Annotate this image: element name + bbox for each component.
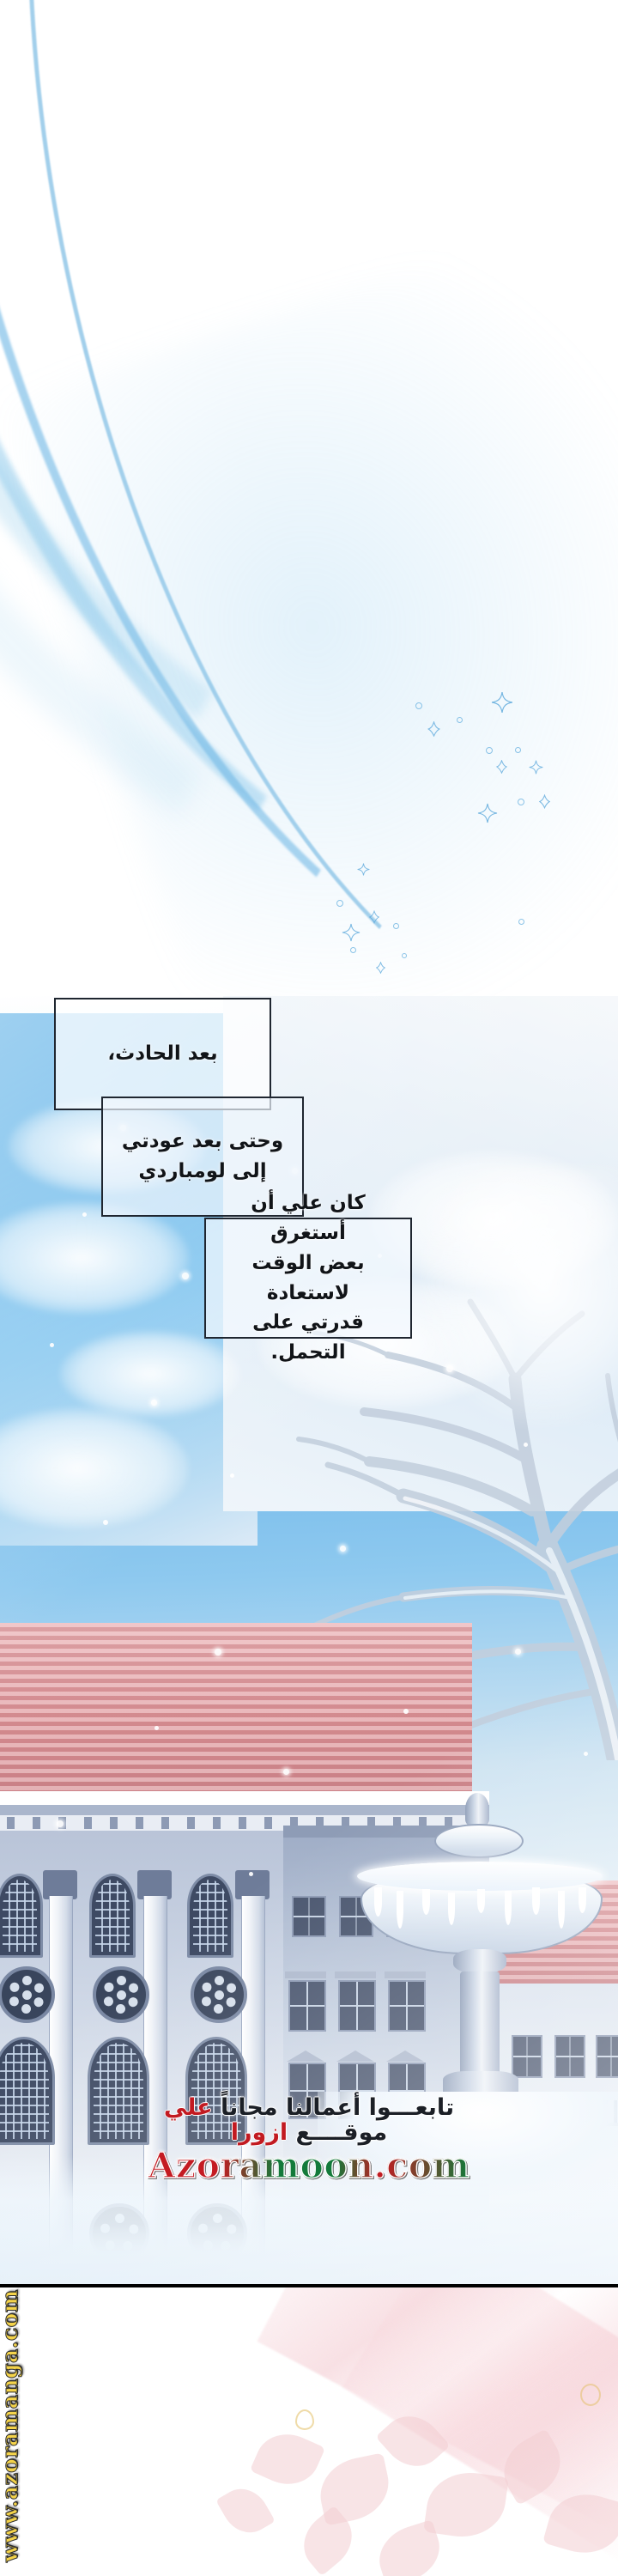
snowflake: [515, 1649, 521, 1655]
dentil: [7, 1817, 15, 1829]
pink-petal: [250, 2423, 325, 2494]
dialogue-line: كان علي أن أستغرق: [251, 1192, 366, 1244]
snowflake: [524, 1443, 528, 1447]
dentil: [187, 1817, 195, 1829]
snowflake: [230, 1473, 234, 1478]
gold-sparkle-icon: [295, 2409, 314, 2430]
sparkle-star-icon: [477, 803, 498, 823]
sparkle-dot-icon: [515, 747, 521, 753]
fountain-finial: [465, 1793, 489, 1826]
dentil: [239, 1817, 246, 1829]
snowflake: [446, 1365, 453, 1372]
dentil: [84, 1817, 92, 1829]
snowflake: [103, 1520, 108, 1525]
dialogue-text: وحتى بعد عودتي إلى لومباردي: [122, 1127, 283, 1187]
sparkle-dot-icon: [393, 923, 399, 929]
column-capital: [43, 1870, 77, 1899]
gold-sparkle-icon: [580, 2384, 601, 2406]
snowflake: [215, 1649, 221, 1656]
icicle: [505, 1891, 512, 1925]
dentil: [33, 1817, 40, 1829]
cloud: [60, 1331, 240, 1417]
window-lintel: [285, 1971, 326, 1978]
sparkle-diamond-icon: [496, 760, 507, 774]
sparkle-star-icon: [491, 691, 513, 714]
sparkle-dot-icon: [518, 919, 524, 925]
palace-roof-main: [0, 1623, 472, 1803]
frost-cluster: [421, 1168, 618, 1425]
dentil: [136, 1817, 143, 1829]
cornice-band: [0, 1805, 489, 1815]
icicle: [532, 1887, 540, 1915]
dialogue-box-1-line-1: بعد الحادث،: [54, 998, 271, 1110]
webtoon-page: بعد الحادث، وحتى بعد عودتي إلى لومباردي …: [0, 0, 618, 2576]
abstract-blue-swoosh-panel: [0, 0, 618, 996]
arched-window: [187, 1874, 233, 1958]
pink-petal: [215, 2480, 276, 2542]
snowflake: [340, 1546, 346, 1552]
dialogue-line: إلى لومباردي: [138, 1160, 266, 1182]
snowflake: [403, 1709, 409, 1714]
square-window: [288, 1980, 326, 2032]
dialogue-line: بعض الوقت لاستعادة: [251, 1252, 364, 1304]
pink-petal: [423, 2467, 509, 2543]
icicle: [374, 1887, 382, 1917]
fountain-upper-basin: [434, 1824, 524, 1858]
sparkle-dot-icon: [402, 953, 407, 958]
snowflake: [182, 1273, 189, 1279]
rose-window: [0, 1966, 55, 2023]
vertical-site-url: www.azoramanga.com: [0, 2289, 22, 2562]
fountain-stem: [460, 1971, 500, 2075]
sparkle-diamond-icon: [427, 721, 440, 737]
foreground-snow: [0, 2155, 618, 2284]
icicle: [558, 1891, 565, 1929]
sparkle-star-icon: [342, 923, 360, 942]
sparkle-diamond-icon: [539, 794, 550, 809]
icicle: [448, 1893, 455, 1925]
snowflake: [283, 1769, 289, 1775]
snowflake: [151, 1400, 157, 1406]
column-capital: [137, 1870, 172, 1899]
sparkle-star-icon: [529, 760, 543, 775]
arched-window-large: [88, 2037, 149, 2145]
sparkle-dot-icon: [350, 947, 356, 953]
snowflake: [82, 1212, 87, 1217]
fountain-stem: [453, 1949, 506, 1973]
page-footer: www.azoramanga.com: [0, 2287, 618, 2576]
snowflake: [249, 1872, 253, 1876]
arched-window: [0, 1874, 43, 1958]
snowflake: [50, 1343, 54, 1347]
dialogue-box-2: كان علي أن أستغرق بعض الوقت لاستعادة قدر…: [204, 1218, 412, 1339]
pediment: [287, 2050, 324, 2062]
dialogue-text: كان علي أن أستغرق بعض الوقت لاستعادة قدر…: [218, 1188, 398, 1369]
sparkle-diamond-icon: [376, 962, 385, 974]
snowflake: [154, 1726, 159, 1730]
arched-window: [89, 1874, 136, 1958]
dialogue-line: وحتى بعد عودتي: [122, 1130, 283, 1152]
square-window: [292, 1896, 326, 1937]
snowflake: [57, 1820, 64, 1827]
dialogue-line: قدرتي على التحمل.: [252, 1311, 364, 1364]
dentil: [213, 1817, 221, 1829]
sparkle-dot-icon: [457, 717, 463, 723]
icicle: [422, 1889, 430, 1915]
dentil: [161, 1817, 169, 1829]
sparkle-diamond-icon: [369, 910, 379, 924]
dentil: [110, 1817, 118, 1829]
sparkle-star-icon: [357, 863, 370, 876]
sparkle-dot-icon: [336, 900, 343, 907]
rose-window: [93, 1966, 149, 2023]
dialogue-text: بعد الحادث،: [107, 1039, 217, 1069]
sparkle-dot-icon: [518, 799, 524, 805]
snowflake: [584, 1752, 588, 1756]
basin-snow-rim: [357, 1862, 603, 1891]
sparkle-dot-icon: [486, 747, 493, 754]
arched-window-large: [185, 2037, 247, 2145]
icicle: [397, 1891, 403, 1929]
icicle: [579, 1887, 586, 1913]
dentil: [264, 1817, 272, 1829]
icicle: [477, 1889, 485, 1913]
arched-window-large: [0, 2037, 55, 2145]
rose-window: [191, 1966, 247, 2023]
sparkle-dot-icon: [415, 702, 422, 709]
